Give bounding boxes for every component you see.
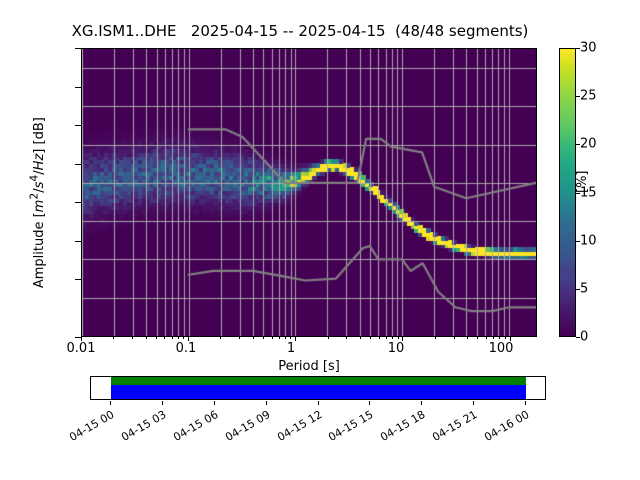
timeline-tickmark	[525, 401, 526, 405]
x-tickmark-minor	[493, 337, 494, 339]
timeline-tickmark	[421, 401, 422, 405]
ppsd-histogram-canvas	[82, 49, 536, 336]
x-tickmark-minor	[467, 337, 468, 339]
timeline-tick-label: 04-15 00	[56, 408, 116, 450]
x-tickmark-minor	[164, 337, 165, 339]
x-tickmark-major	[81, 337, 82, 341]
timeline-tickmark	[266, 401, 267, 405]
x-tick-label: 0.1	[176, 341, 197, 356]
y-tickmark	[75, 202, 81, 203]
y-tickmark	[75, 241, 81, 242]
x-tickmark-minor	[454, 337, 455, 339]
x-tickmark-minor	[146, 337, 147, 339]
x-tick-label: 100	[489, 341, 514, 356]
timeline-tick-label: 04-15 06	[160, 408, 220, 450]
y-axis-label-text: Amplitude [m2/s4/Hz] [dB]	[32, 117, 47, 288]
timeline-tickmark	[110, 401, 111, 405]
x-tick-label: 0.01	[67, 341, 96, 356]
ppsd-figure: XG.ISM1..DHE 2025-04-15 -- 2025-04-15 (4…	[0, 0, 640, 480]
x-tickmark-minor	[328, 337, 329, 339]
x-tickmark-minor	[370, 337, 371, 339]
x-tickmark-minor	[263, 337, 264, 339]
timeline-coverage-green	[111, 377, 526, 385]
x-tickmark-minor	[156, 337, 157, 339]
y-tickmark	[75, 125, 81, 126]
x-tickmark-minor	[398, 337, 399, 339]
timeline-tick-label: 04-15 12	[264, 408, 324, 450]
timeline-tickmark	[369, 401, 370, 405]
x-tickmark-minor	[279, 337, 280, 339]
x-tickmark-minor	[486, 337, 487, 339]
x-tickmark-minor	[290, 337, 291, 339]
x-tickmark-major	[295, 337, 296, 341]
x-tickmark-minor	[346, 337, 347, 339]
timeline-tickmark	[318, 401, 319, 405]
x-axis-label: Period [s]	[81, 359, 537, 374]
y-tickmark	[75, 279, 81, 280]
x-tickmark-minor	[379, 337, 380, 339]
timeline-tick-label: 04-16 00	[471, 408, 531, 450]
x-tickmark-minor	[435, 337, 436, 339]
timeline-tick-label: 04-15 09	[212, 408, 272, 450]
x-tickmark-minor	[253, 337, 254, 339]
timeline-tickmark	[162, 401, 163, 405]
y-axis-label: Amplitude [m2/s4/Hz] [dB]	[28, 58, 47, 347]
y-tickmark	[75, 164, 81, 165]
timeline-axes[interactable]	[90, 376, 546, 400]
x-tickmark-minor	[220, 337, 221, 339]
colorbar	[559, 48, 576, 337]
colorbar-tick-label: 20	[580, 137, 597, 152]
x-tickmark-minor	[239, 337, 240, 339]
timeline-tick-label: 04-15 18	[368, 408, 428, 450]
x-tickmark-minor	[386, 337, 387, 339]
colorbar-tick-label: 5	[580, 281, 588, 296]
x-tickmark-minor	[272, 337, 273, 339]
timeline-tickmark	[473, 401, 474, 405]
x-tickmark-minor	[505, 337, 506, 339]
colorbar-tick-label: 25	[580, 89, 597, 104]
x-tick-label: 10	[388, 341, 405, 356]
x-tick-label: 1	[287, 341, 295, 356]
x-tickmark-minor	[183, 337, 184, 339]
x-tickmark-minor	[499, 337, 500, 339]
x-tickmark-minor	[477, 337, 478, 339]
x-tickmark-minor	[113, 337, 114, 339]
timeline-tick-label: 04-15 03	[108, 408, 168, 450]
y-tickmark	[75, 87, 81, 88]
timeline-tickmark	[214, 401, 215, 405]
colorbar-tick-label: 15	[580, 185, 597, 200]
colorbar-tick-label: 0	[580, 330, 588, 345]
y-tickmark	[75, 48, 81, 49]
x-tickmark-minor	[178, 337, 179, 339]
x-tickmark-major	[402, 337, 403, 341]
x-tickmark-minor	[132, 337, 133, 339]
x-tickmark-minor	[392, 337, 393, 339]
ppsd-main-axes[interactable]	[81, 48, 537, 337]
x-tickmark-minor	[285, 337, 286, 339]
timeline-tick-label: 04-15 21	[419, 408, 479, 450]
page-title: XG.ISM1..DHE 2025-04-15 -- 2025-04-15 (4…	[0, 22, 600, 40]
x-tickmark-major	[510, 337, 511, 341]
timeline-coverage-blue	[111, 385, 526, 399]
colorbar-tick-label: 30	[580, 41, 597, 56]
x-tickmark-major	[188, 337, 189, 341]
x-tickmark-minor	[172, 337, 173, 339]
x-tickmark-minor	[360, 337, 361, 339]
colorbar-tick-label: 10	[580, 233, 597, 248]
timeline-tick-label: 04-15 15	[316, 408, 376, 450]
